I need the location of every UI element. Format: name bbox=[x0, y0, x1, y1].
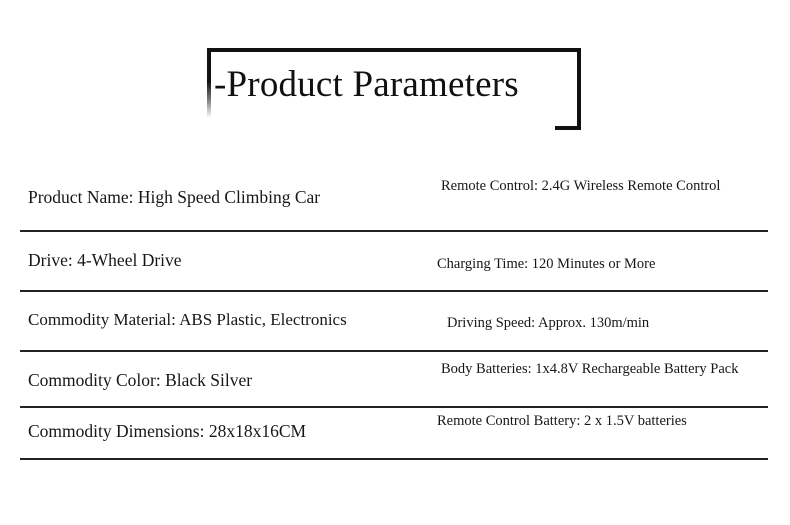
spec-cell-right: Remote Control: 2.4G Wireless Remote Con… bbox=[441, 176, 761, 196]
spec-cell-left: Drive: 4-Wheel Drive bbox=[28, 249, 428, 271]
spec-cell-right: Body Batteries: 1x4.8V Rechargeable Batt… bbox=[441, 359, 761, 379]
spec-cell-left: Product Name: High Speed Climbing Car bbox=[28, 186, 428, 208]
bracket-top-rule bbox=[207, 48, 581, 52]
row-divider bbox=[20, 458, 768, 460]
bracket-left-rule bbox=[207, 48, 211, 118]
spec-cell-left: Commodity Material: ABS Plastic, Electro… bbox=[28, 309, 428, 331]
spec-cell-left: Commodity Dimensions: 28x18x16CM bbox=[28, 420, 428, 442]
table-row: Commodity Material: ABS Plastic, Electro… bbox=[0, 292, 790, 352]
table-row: Commodity Dimensions: 28x18x16CM Remote … bbox=[0, 408, 790, 460]
title-block: -Product Parameters bbox=[0, 0, 790, 150]
table-row: Commodity Color: Black Silver Body Batte… bbox=[0, 352, 790, 408]
spec-cell-right: Driving Speed: Approx. 130m/min bbox=[447, 313, 767, 333]
page-title: -Product Parameters bbox=[214, 60, 584, 110]
table-row: Drive: 4-Wheel Drive Charging Time: 120 … bbox=[0, 232, 790, 292]
spec-cell-right: Charging Time: 120 Minutes or More bbox=[437, 254, 757, 274]
spec-cell-left: Commodity Color: Black Silver bbox=[28, 369, 428, 391]
spec-table: Product Name: High Speed Climbing Car Re… bbox=[0, 150, 790, 460]
table-row: Product Name: High Speed Climbing Car Re… bbox=[0, 150, 790, 232]
bracket-bottom-rule bbox=[555, 126, 581, 130]
spec-cell-right: Remote Control Battery: 2 x 1.5V batteri… bbox=[437, 411, 757, 431]
